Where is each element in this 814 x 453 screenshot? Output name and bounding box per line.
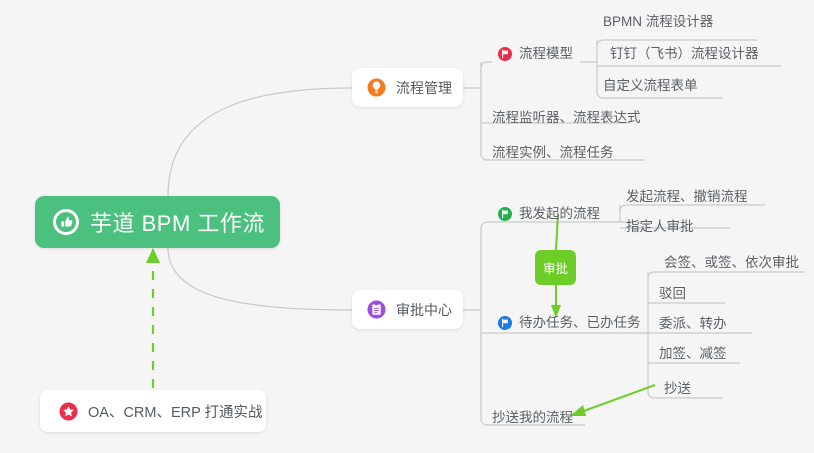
node-flow-listener-expression[interactable]: 流程监听器、流程表达式	[492, 111, 641, 125]
node-label-flow-instance-task: 流程实例、流程任务	[492, 145, 614, 160]
node-label-countersign-orsign-sequential: 会签、或签、依次审批	[664, 255, 799, 270]
mindmap-canvas: 芋道 BPM 工作流 流程管理 流程模型 BPMN 流程设计器 钉钉（飞书）流程	[0, 0, 814, 453]
lightbulb-icon	[366, 77, 387, 98]
bottom-note-label: OA、CRM、ERP 打通实战	[88, 401, 263, 422]
flag-icon	[497, 206, 513, 222]
node-start-cancel-flow[interactable]: 发起流程、撤销流程	[626, 190, 748, 204]
arrow-oa-to-root-head	[146, 248, 160, 263]
node-designated-approver[interactable]: 指定人审批	[626, 220, 694, 234]
node-label-cc: 抄送	[664, 381, 691, 396]
node-label-flow-model: 流程模型	[519, 46, 573, 61]
approve-badge: 审批	[535, 250, 576, 285]
node-my-initiated-flows[interactable]: 我发起的流程	[497, 207, 600, 221]
node-flow-model[interactable]: 流程模型	[497, 47, 573, 61]
approve-badge-label: 审批	[543, 258, 568, 277]
node-label-todo-done-tasks: 待办任务、已办任务	[519, 315, 641, 330]
flag-icon	[497, 46, 513, 62]
node-add-remove-sign[interactable]: 加签、减签	[659, 347, 727, 361]
connector-my-initiated-trunk-cap-top	[620, 205, 632, 211]
branch-node-approval-center[interactable]: 审批中心	[352, 290, 463, 329]
node-label-reject: 驳回	[659, 286, 686, 301]
node-label-flows-cc-to-me: 抄送我的流程	[492, 410, 573, 425]
clipboard-icon	[366, 299, 387, 320]
connector-flow-management-trunk-cap-bottom	[481, 154, 492, 160]
node-todo-done-tasks[interactable]: 待办任务、已办任务	[497, 316, 641, 330]
node-flow-instance-task[interactable]: 流程实例、流程任务	[492, 146, 614, 160]
connector-flow-management-trunk-cap-top	[481, 62, 492, 68]
node-label-bpmn-designer: BPMN 流程设计器	[603, 14, 713, 29]
connector-todo-done-trunk-cap-top	[648, 272, 660, 278]
root-label: 芋道 BPM 工作流	[90, 206, 265, 238]
node-dingtalk-feishu-designer[interactable]: 钉钉（飞书）流程设计器	[610, 47, 759, 61]
node-bpmn-designer[interactable]: BPMN 流程设计器	[603, 15, 713, 29]
node-label-designated-approver: 指定人审批	[626, 219, 694, 234]
node-countersign-orsign-sequential[interactable]: 会签、或签、依次审批	[664, 256, 799, 270]
node-label-flow-listener-expression: 流程监听器、流程表达式	[492, 110, 641, 125]
thumbs-up-icon	[53, 209, 79, 235]
node-label-start-cancel-flow: 发起流程、撤销流程	[626, 189, 748, 204]
node-label-my-initiated-flows: 我发起的流程	[519, 206, 600, 221]
connector-root-to-approval-center	[168, 248, 352, 310]
node-custom-flow-form[interactable]: 自定义流程表单	[603, 79, 698, 93]
connector-flow-model-trunk-cap-top	[597, 40, 609, 46]
node-cc[interactable]: 抄送	[664, 382, 691, 396]
branch-label-approval-center: 审批中心	[396, 300, 452, 320]
flag-icon	[497, 315, 513, 331]
node-label-dingtalk-feishu-designer: 钉钉（飞书）流程设计器	[610, 46, 759, 61]
connector-root-to-flow-management	[168, 88, 352, 196]
branch-node-flow-management[interactable]: 流程管理	[352, 68, 463, 107]
node-label-add-remove-sign: 加签、减签	[659, 346, 727, 361]
node-label-delegate-transfer: 委派、转办	[659, 316, 727, 331]
connector-todo-done-trunk-cap-bottom	[648, 392, 660, 398]
bottom-note-oa-crm-erp[interactable]: OA、CRM、ERP 打通实战	[40, 390, 266, 432]
node-flows-cc-to-me[interactable]: 抄送我的流程	[492, 411, 573, 425]
node-delegate-transfer[interactable]: 委派、转办	[659, 317, 727, 331]
connector-approval-center-trunk-cap-top	[481, 222, 492, 228]
connector-approval-center-trunk-cap-bottom	[481, 419, 492, 425]
node-reject[interactable]: 驳回	[659, 287, 686, 301]
arrow-cc-to-ccflows-line	[581, 385, 655, 412]
star-icon	[58, 401, 79, 422]
branch-label-flow-management: 流程管理	[396, 78, 452, 98]
root-node[interactable]: 芋道 BPM 工作流	[35, 196, 280, 248]
node-label-custom-flow-form: 自定义流程表单	[603, 78, 698, 93]
